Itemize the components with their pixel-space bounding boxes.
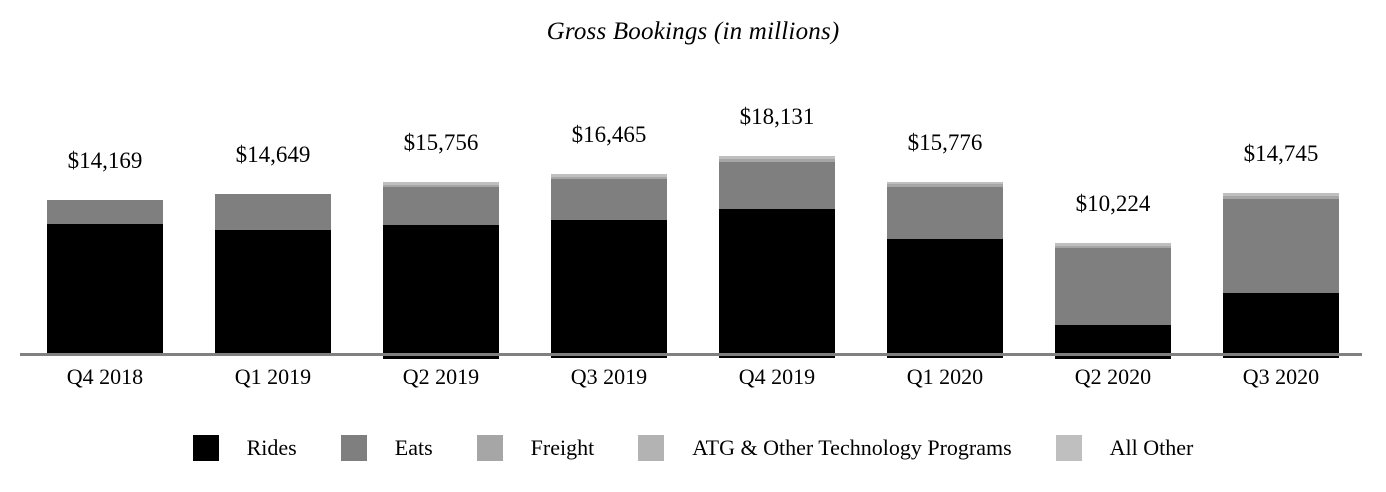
bar-stack[interactable]: [551, 174, 667, 356]
bar-group[interactable]: $14,169: [21, 60, 189, 356]
bar-group[interactable]: $16,465: [525, 60, 693, 356]
bar-value-label: $14,169: [21, 148, 189, 174]
bar-group[interactable]: $18,131: [693, 60, 861, 356]
bar-segment[interactable]: [887, 187, 1003, 239]
bar-segment[interactable]: [215, 194, 331, 229]
legend-item[interactable]: ATG & Other Technology Programs: [638, 435, 1011, 461]
x-axis-label: Q3 2019: [525, 364, 693, 390]
bar-stack[interactable]: [215, 194, 331, 356]
bar-segment[interactable]: [1223, 199, 1339, 293]
bar-group[interactable]: $14,649: [189, 60, 357, 356]
bar-value-label: $16,465: [525, 122, 693, 148]
x-axis-label: Q2 2020: [1029, 364, 1197, 390]
bar-value-label: $15,776: [861, 130, 1029, 156]
bar-stack[interactable]: [887, 182, 1003, 356]
legend-item[interactable]: Rides: [193, 435, 297, 461]
x-axis-category-labels: Q4 2018Q1 2019Q2 2019Q3 2019Q4 2019Q1 20…: [0, 364, 1386, 398]
bar-segment[interactable]: [551, 220, 667, 358]
legend-label: Freight: [531, 435, 595, 461]
legend-label: All Other: [1110, 435, 1194, 461]
legend-item[interactable]: All Other: [1056, 435, 1194, 461]
x-axis-label: Q4 2018: [21, 364, 189, 390]
legend-swatch-icon: [477, 435, 503, 461]
legend-label: Rides: [247, 435, 297, 461]
bar-stack[interactable]: [47, 200, 163, 356]
bar-value-label: $18,131: [693, 104, 861, 130]
bar-segment[interactable]: [887, 239, 1003, 359]
bar-value-label: $14,649: [189, 142, 357, 168]
legend-label: ATG & Other Technology Programs: [692, 435, 1011, 461]
bar-stack[interactable]: [1055, 243, 1171, 356]
bar-segment[interactable]: [719, 209, 835, 358]
bar-value-label: $14,745: [1197, 141, 1365, 167]
x-axis-label: Q1 2020: [861, 364, 1029, 390]
bar-value-label: $10,224: [1029, 191, 1197, 217]
legend-swatch-icon: [341, 435, 367, 461]
x-axis-label: Q2 2019: [357, 364, 525, 390]
bar-segment[interactable]: [383, 225, 499, 359]
plot-area: $14,169$14,649$15,756$16,465$18,131$15,7…: [0, 60, 1386, 356]
chart-title: Gross Bookings (in millions): [0, 18, 1386, 46]
bar-stack[interactable]: [1223, 193, 1339, 356]
bar-stack[interactable]: [383, 182, 499, 356]
legend-swatch-icon: [638, 435, 664, 461]
bar-group[interactable]: $15,756: [357, 60, 525, 356]
bar-segment[interactable]: [551, 179, 667, 219]
bar-segment[interactable]: [383, 187, 499, 224]
bar-value-label: $15,756: [357, 130, 525, 156]
bar-group[interactable]: $14,745: [1197, 60, 1365, 356]
x-axis-label: Q1 2019: [189, 364, 357, 390]
x-axis-label: Q4 2019: [693, 364, 861, 390]
bar-segment[interactable]: [719, 162, 835, 209]
x-axis-baseline: [20, 353, 1362, 356]
legend-item[interactable]: Freight: [477, 435, 595, 461]
bar-segment[interactable]: [215, 230, 331, 356]
legend-swatch-icon: [193, 435, 219, 461]
bar-segment[interactable]: [47, 200, 163, 224]
legend-swatch-icon: [1056, 435, 1082, 461]
bar-group[interactable]: $10,224: [1029, 60, 1197, 356]
bar-segment[interactable]: [1055, 248, 1171, 325]
bar-segment[interactable]: [1223, 293, 1339, 358]
x-axis-label: Q3 2020: [1197, 364, 1365, 390]
bar-segment[interactable]: [47, 224, 163, 356]
chart-legend: RidesEatsFreightATG & Other Technology P…: [0, 428, 1386, 468]
bar-stack[interactable]: [719, 156, 835, 356]
chart-page: Gross Bookings (in millions) $14,169$14,…: [0, 0, 1386, 492]
bar-group[interactable]: $15,776: [861, 60, 1029, 356]
legend-item[interactable]: Eats: [341, 435, 433, 461]
legend-label: Eats: [395, 435, 433, 461]
